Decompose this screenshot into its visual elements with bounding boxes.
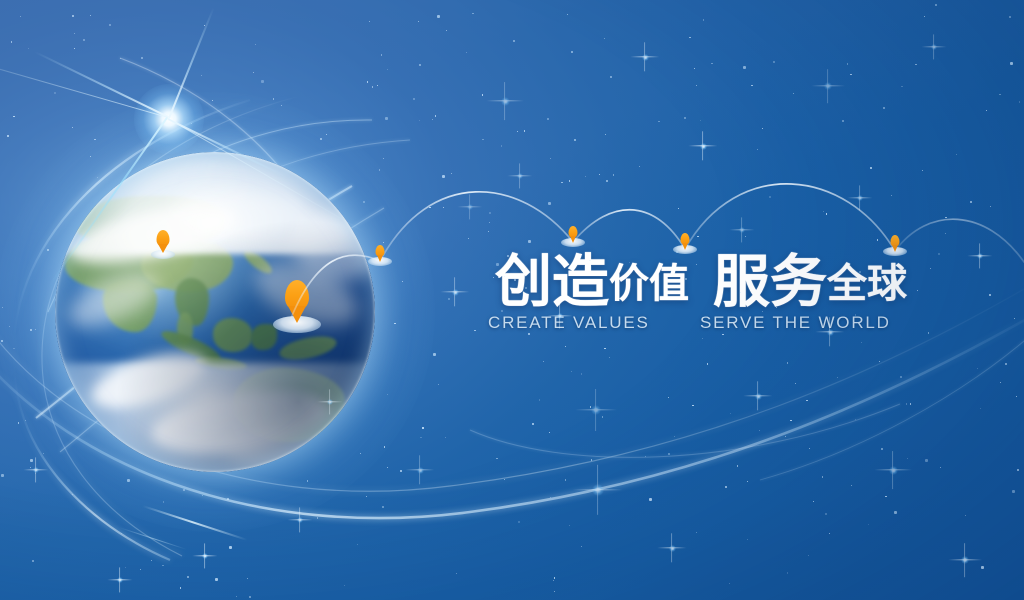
background-vignette bbox=[0, 0, 1024, 600]
hero-banner: 创造价值服务全球 CREATE VALUES SERVE THE WORLD bbox=[0, 0, 1024, 600]
